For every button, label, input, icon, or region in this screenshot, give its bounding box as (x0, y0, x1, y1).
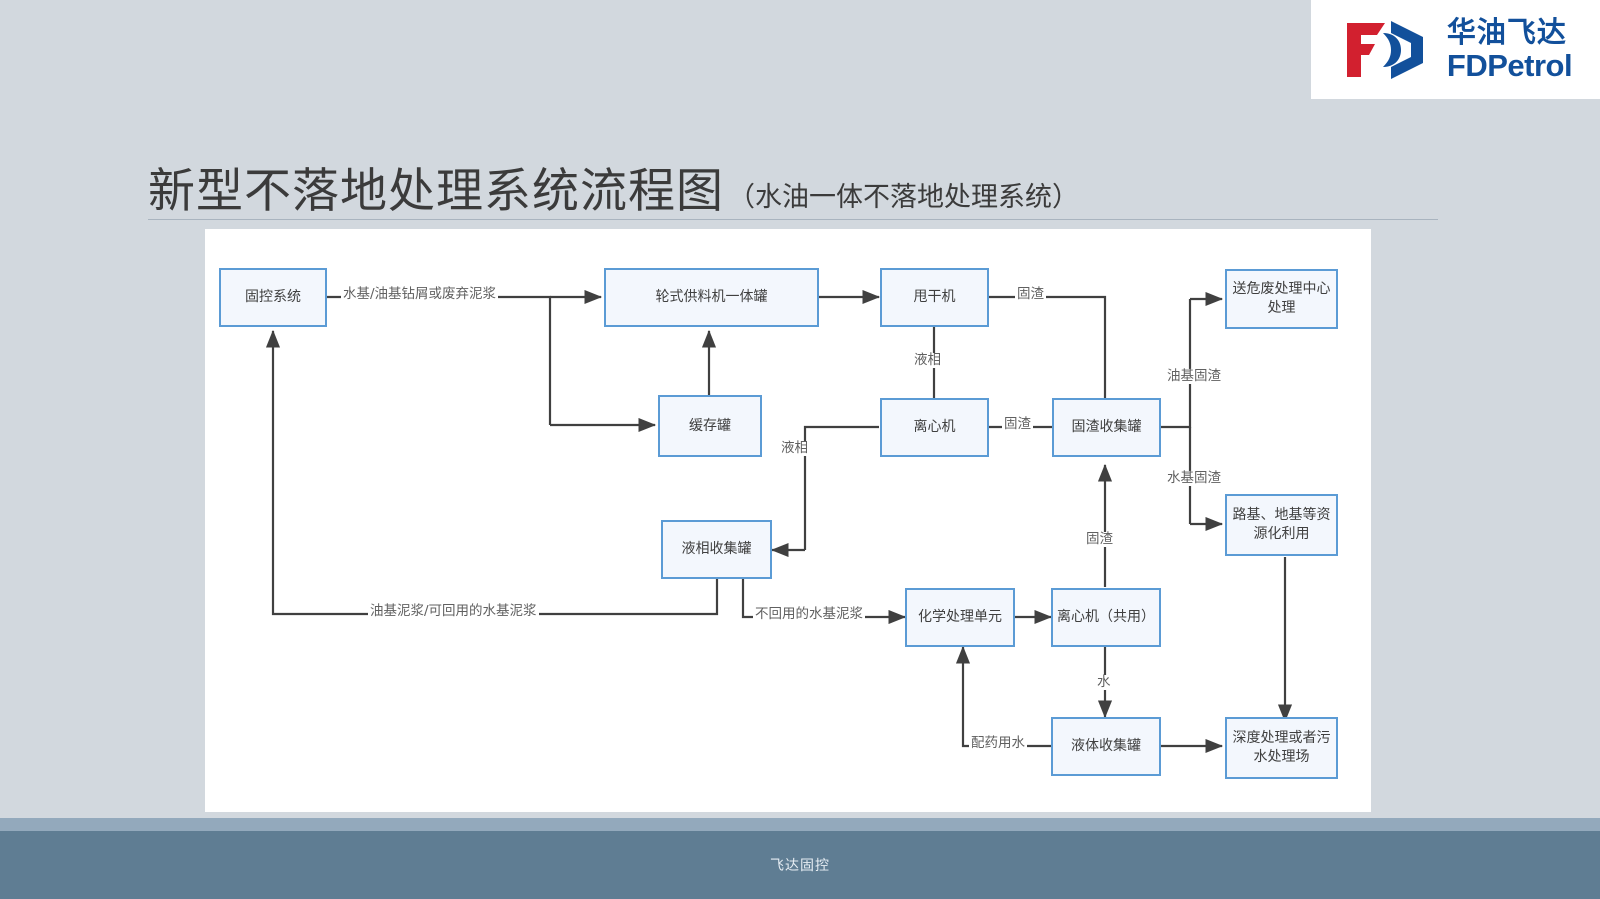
logo-chinese-name: 华油飞达 (1447, 18, 1572, 47)
fd-hexagon-logo-icon (1339, 15, 1437, 85)
page-title: 新型不落地处理系统流程图 （水油一体不落地处理系统） (148, 148, 1438, 220)
node-spin-dryer[interactable]: 甩干机 (880, 268, 989, 327)
edge-label-waterbase-oilbase-cuttings: 水基/油基钻屑或废弃泥浆 (341, 287, 498, 302)
edge-label-oilbase-solid-residue: 油基固渣 (1165, 369, 1223, 384)
footer-bar: 飞达固控 (0, 831, 1600, 899)
edge-label-water: 水 (1095, 675, 1113, 690)
node-chemical-treatment-unit[interactable]: 化学处理单元 (905, 588, 1015, 647)
node-roadbed-resource-utilization[interactable]: 路基、地基等资源化利用 (1225, 494, 1338, 556)
node-liquid-collection-tank[interactable]: 液体收集罐 (1051, 717, 1161, 776)
node-centrifuge[interactable]: 离心机 (880, 398, 989, 457)
node-deep-treatment-or-sewage-plant[interactable]: 深度处理或者污水处理场 (1225, 717, 1338, 779)
company-logo: 华油飞达 FDPetrol (1311, 0, 1600, 99)
edge-label-oilbase-mud-reusable-waterbase-mud: 油基泥浆/可回用的水基泥浆 (368, 604, 539, 619)
node-hazardous-waste-center[interactable]: 送危废处理中心处理 (1225, 269, 1338, 329)
footer-text: 飞达固控 (770, 855, 830, 875)
node-gukong-system[interactable]: 固控系统 (219, 268, 327, 327)
footer-accent-bar (0, 818, 1600, 831)
edge-label-solid-residue-shared: 固渣 (1084, 532, 1115, 547)
page-title-main: 新型不落地处理系统流程图 (148, 168, 724, 215)
edge-label-liquid-phase-centrifuge: 液相 (779, 441, 810, 456)
edge-label-solid-residue-dryer: 固渣 (1015, 287, 1046, 302)
node-buffer-tank[interactable]: 缓存罐 (658, 395, 762, 457)
node-solid-residue-tank[interactable]: 固渣收集罐 (1052, 398, 1161, 457)
node-wheeled-feeder-tank[interactable]: 轮式供料机一体罐 (604, 268, 819, 327)
logo-english-name: FDPetrol (1447, 50, 1572, 81)
slide-root: 华油飞达 FDPetrol 新型不落地处理系统流程图 （水油一体不落地处理系统） (0, 0, 1600, 899)
edge-label-dosing-water: 配药用水 (969, 736, 1027, 751)
flowchart-canvas: 固控系统 轮式供料机一体罐 缓存罐 甩干机 离心机 固渣收集罐 送危废处理中心处… (205, 229, 1371, 812)
edge-label-solid-residue-centrifuge: 固渣 (1002, 417, 1033, 432)
page-title-sub: （水油一体不落地处理系统） (728, 184, 1079, 211)
node-liquid-phase-tank[interactable]: 液相收集罐 (661, 520, 772, 579)
edge-label-liquid-phase-dryer: 液相 (912, 353, 943, 368)
edge-label-nonreusable-waterbase-mud: 不回用的水基泥浆 (753, 607, 865, 622)
node-shared-centrifuge[interactable]: 离心机（共用） (1051, 588, 1161, 647)
edge-label-waterbase-solid-residue: 水基固渣 (1165, 471, 1223, 486)
